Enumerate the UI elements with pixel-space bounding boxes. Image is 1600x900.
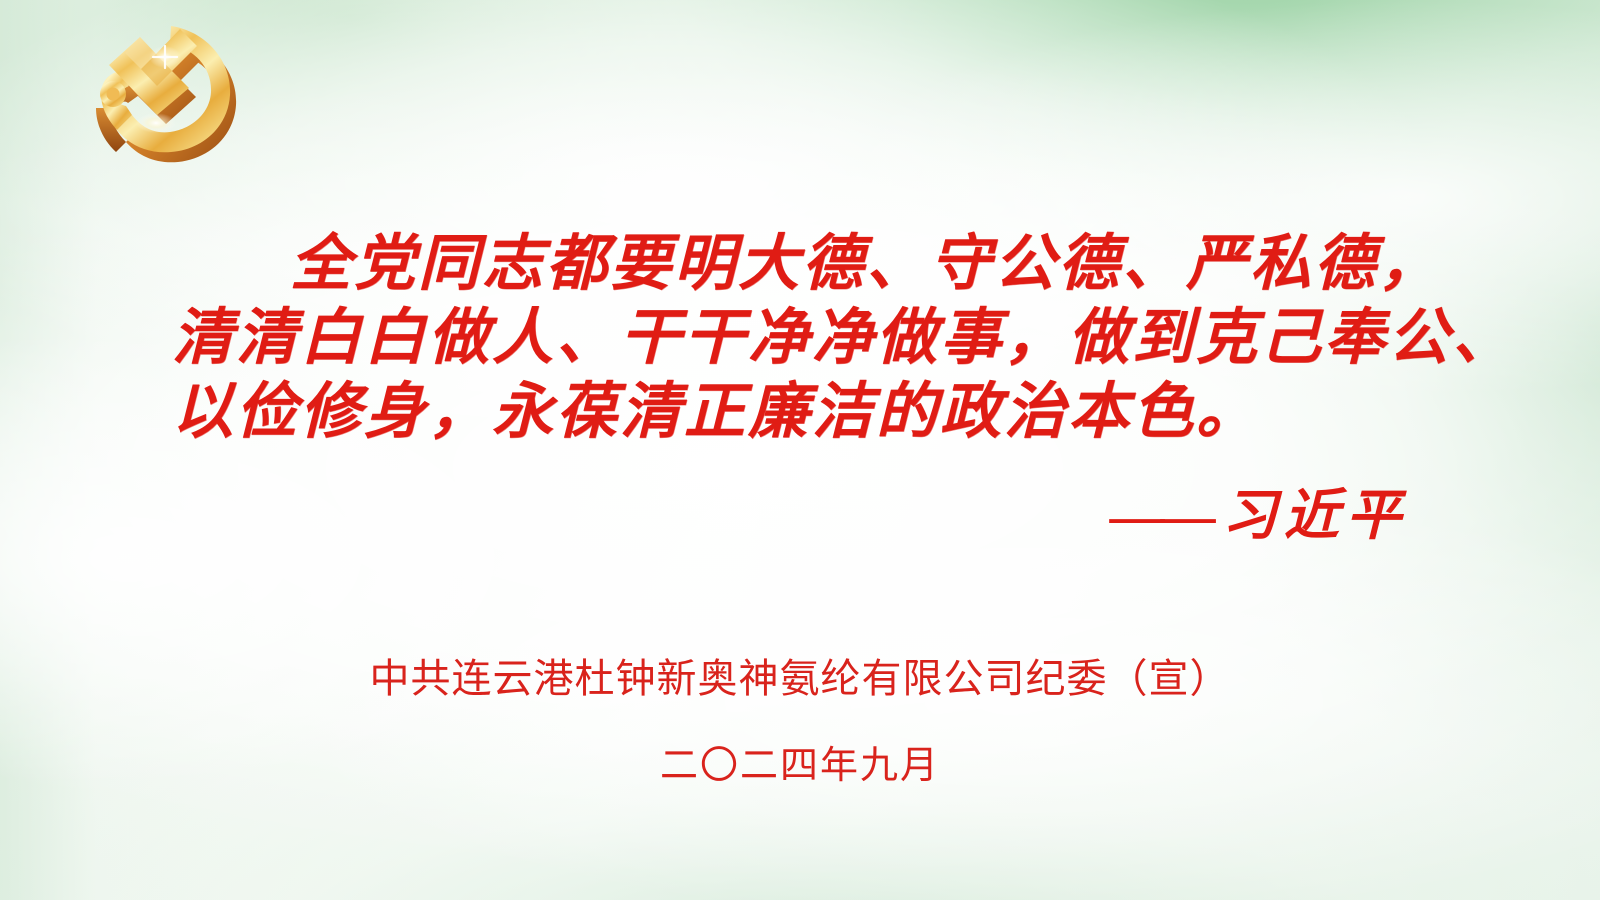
cpc-hammer-sickle-emblem [83, 22, 253, 172]
poster-canvas: 全党同志都要明大德、守公德、严私德， 清清白白做人、干干净净做事，做到克己奉公、… [0, 0, 1600, 900]
attribution-dash: —— [1110, 485, 1212, 546]
quote-attribution: ——习近平 [0, 470, 1600, 550]
quote-line-3: 以俭修身，永葆清正廉洁的政治本色。 [0, 376, 1600, 450]
quote-line-2: 清清白白做人、干干净净做事，做到克己奉公、 [0, 302, 1600, 376]
quotation-block: 全党同志都要明大德、守公德、严私德， 清清白白做人、干干净净做事，做到克己奉公、… [0, 228, 1600, 550]
footer-block: 中共连云港杜钟新奥神氨纶有限公司纪委（宣） 二〇二四年九月 [0, 652, 1600, 789]
issue-date: 二〇二四年九月 [0, 734, 1600, 789]
quote-line-1: 全党同志都要明大德、守公德、严私德， [0, 228, 1600, 302]
issuing-organization: 中共连云港杜钟新奥神氨纶有限公司纪委（宣） [0, 652, 1600, 706]
attribution-author: 习近平 [1222, 485, 1408, 546]
